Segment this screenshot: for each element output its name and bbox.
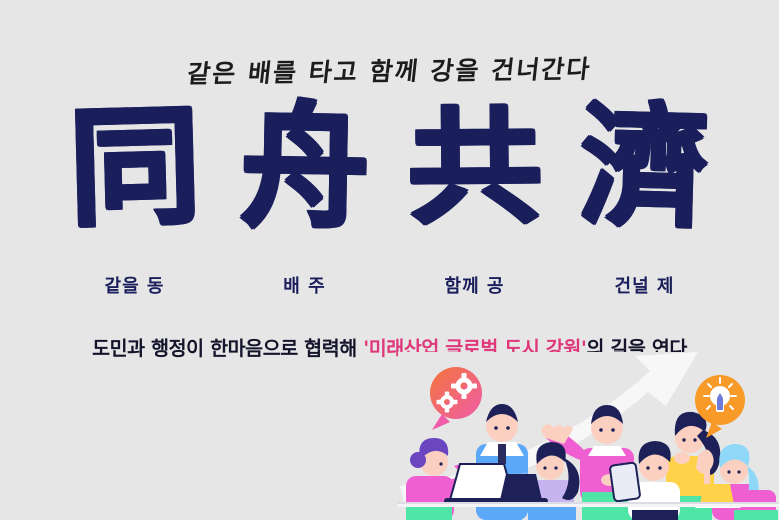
hanja-char-4: 濟 — [573, 101, 716, 235]
gloss-label-2: 배 주 — [235, 272, 375, 298]
table-edge — [398, 502, 779, 507]
meeting-illustration — [398, 352, 779, 520]
hanja-char-3: 共 — [400, 105, 548, 230]
hanja-char-2: 舟 — [233, 100, 375, 237]
poster-canvas: 같은 배를 타고 함께 강을 건너간다 同 舟 共 濟 같을 동 배 주 함께 … — [0, 0, 779, 520]
tablet-held — [610, 462, 641, 501]
gloss-label-1: 같을 동 — [65, 272, 205, 298]
gloss-label-4: 건널 제 — [575, 272, 715, 298]
tagline-text: 같은 배를 타고 함께 강을 건너간다 — [0, 47, 779, 93]
hanja-char-1: 同 — [61, 102, 209, 234]
gloss-row: 같을 동 배 주 함께 공 건널 제 — [0, 272, 779, 298]
hanja-row: 同 舟 共 濟 — [0, 104, 779, 232]
subtitle-before: 도민과 행정이 한마음으로 협력해 — [92, 337, 363, 360]
gloss-label-3: 함께 공 — [405, 272, 545, 298]
